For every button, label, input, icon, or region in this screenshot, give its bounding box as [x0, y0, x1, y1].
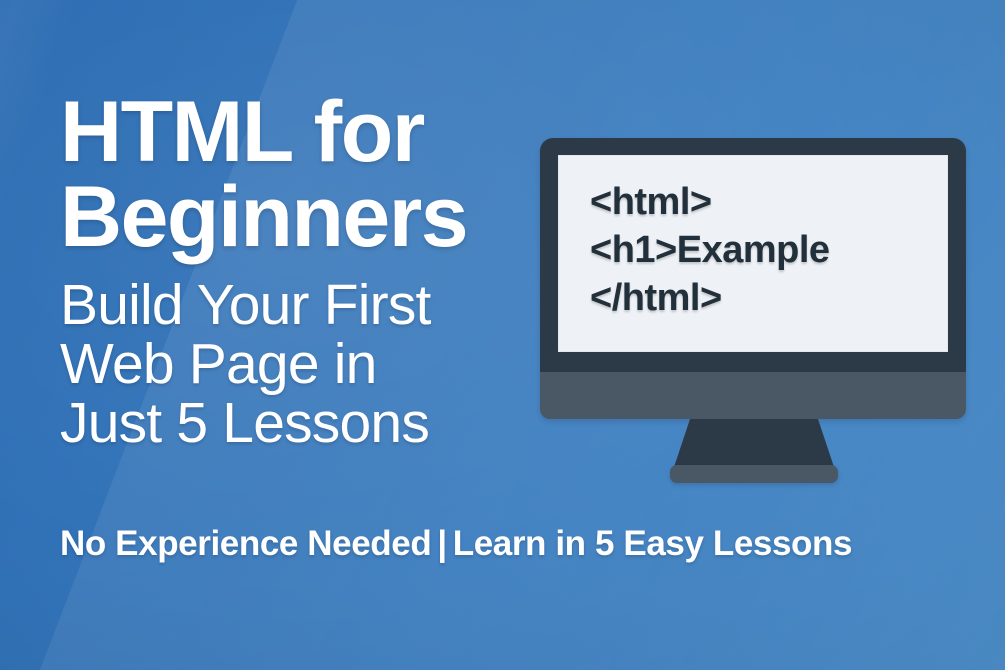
- monitor-chin: [540, 372, 966, 419]
- tagline: No Experience Needed|Learn in 5 Easy Les…: [60, 524, 852, 564]
- page-subtitle: Build Your First Web Page in Just 5 Less…: [60, 276, 530, 452]
- monitor-screen: <html> <h1>Example </html>: [558, 155, 948, 352]
- code-line: </html>: [590, 274, 830, 322]
- code-snippet: <html> <h1>Example </html>: [590, 178, 830, 322]
- page-title: HTML for Beginners: [60, 90, 530, 260]
- desktop-monitor-illustration: <html> <h1>Example </html>: [540, 138, 966, 419]
- poster-canvas: HTML for Beginners Build Your First Web …: [0, 0, 1005, 670]
- tagline-left: No Experience Needed: [60, 524, 431, 563]
- monitor-stand-base: [670, 465, 838, 483]
- code-line: <h1>Example: [590, 226, 830, 274]
- text-block: HTML for Beginners Build Your First Web …: [60, 90, 530, 452]
- tagline-separator: |: [431, 524, 452, 563]
- monitor-bezel: <html> <h1>Example </html>: [540, 138, 966, 372]
- code-line: <html>: [590, 178, 830, 226]
- monitor-stand-neck: [674, 419, 834, 467]
- tagline-right: Learn in 5 Easy Lessons: [453, 524, 852, 563]
